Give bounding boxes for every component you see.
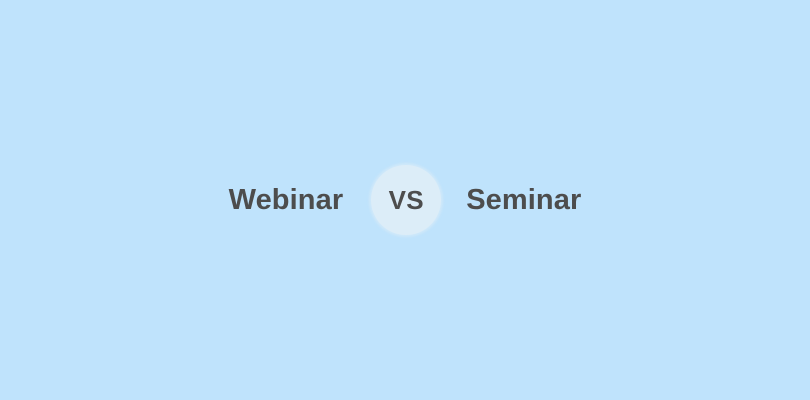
vs-badge-label: VS: [389, 187, 424, 213]
left-term-label: Webinar: [229, 186, 344, 215]
right-term-label: Seminar: [466, 186, 581, 215]
comparison-row: Webinar VS Seminar: [229, 165, 582, 235]
vs-badge: VS: [371, 165, 441, 235]
comparison-graphic: Webinar VS Seminar: [0, 0, 810, 400]
